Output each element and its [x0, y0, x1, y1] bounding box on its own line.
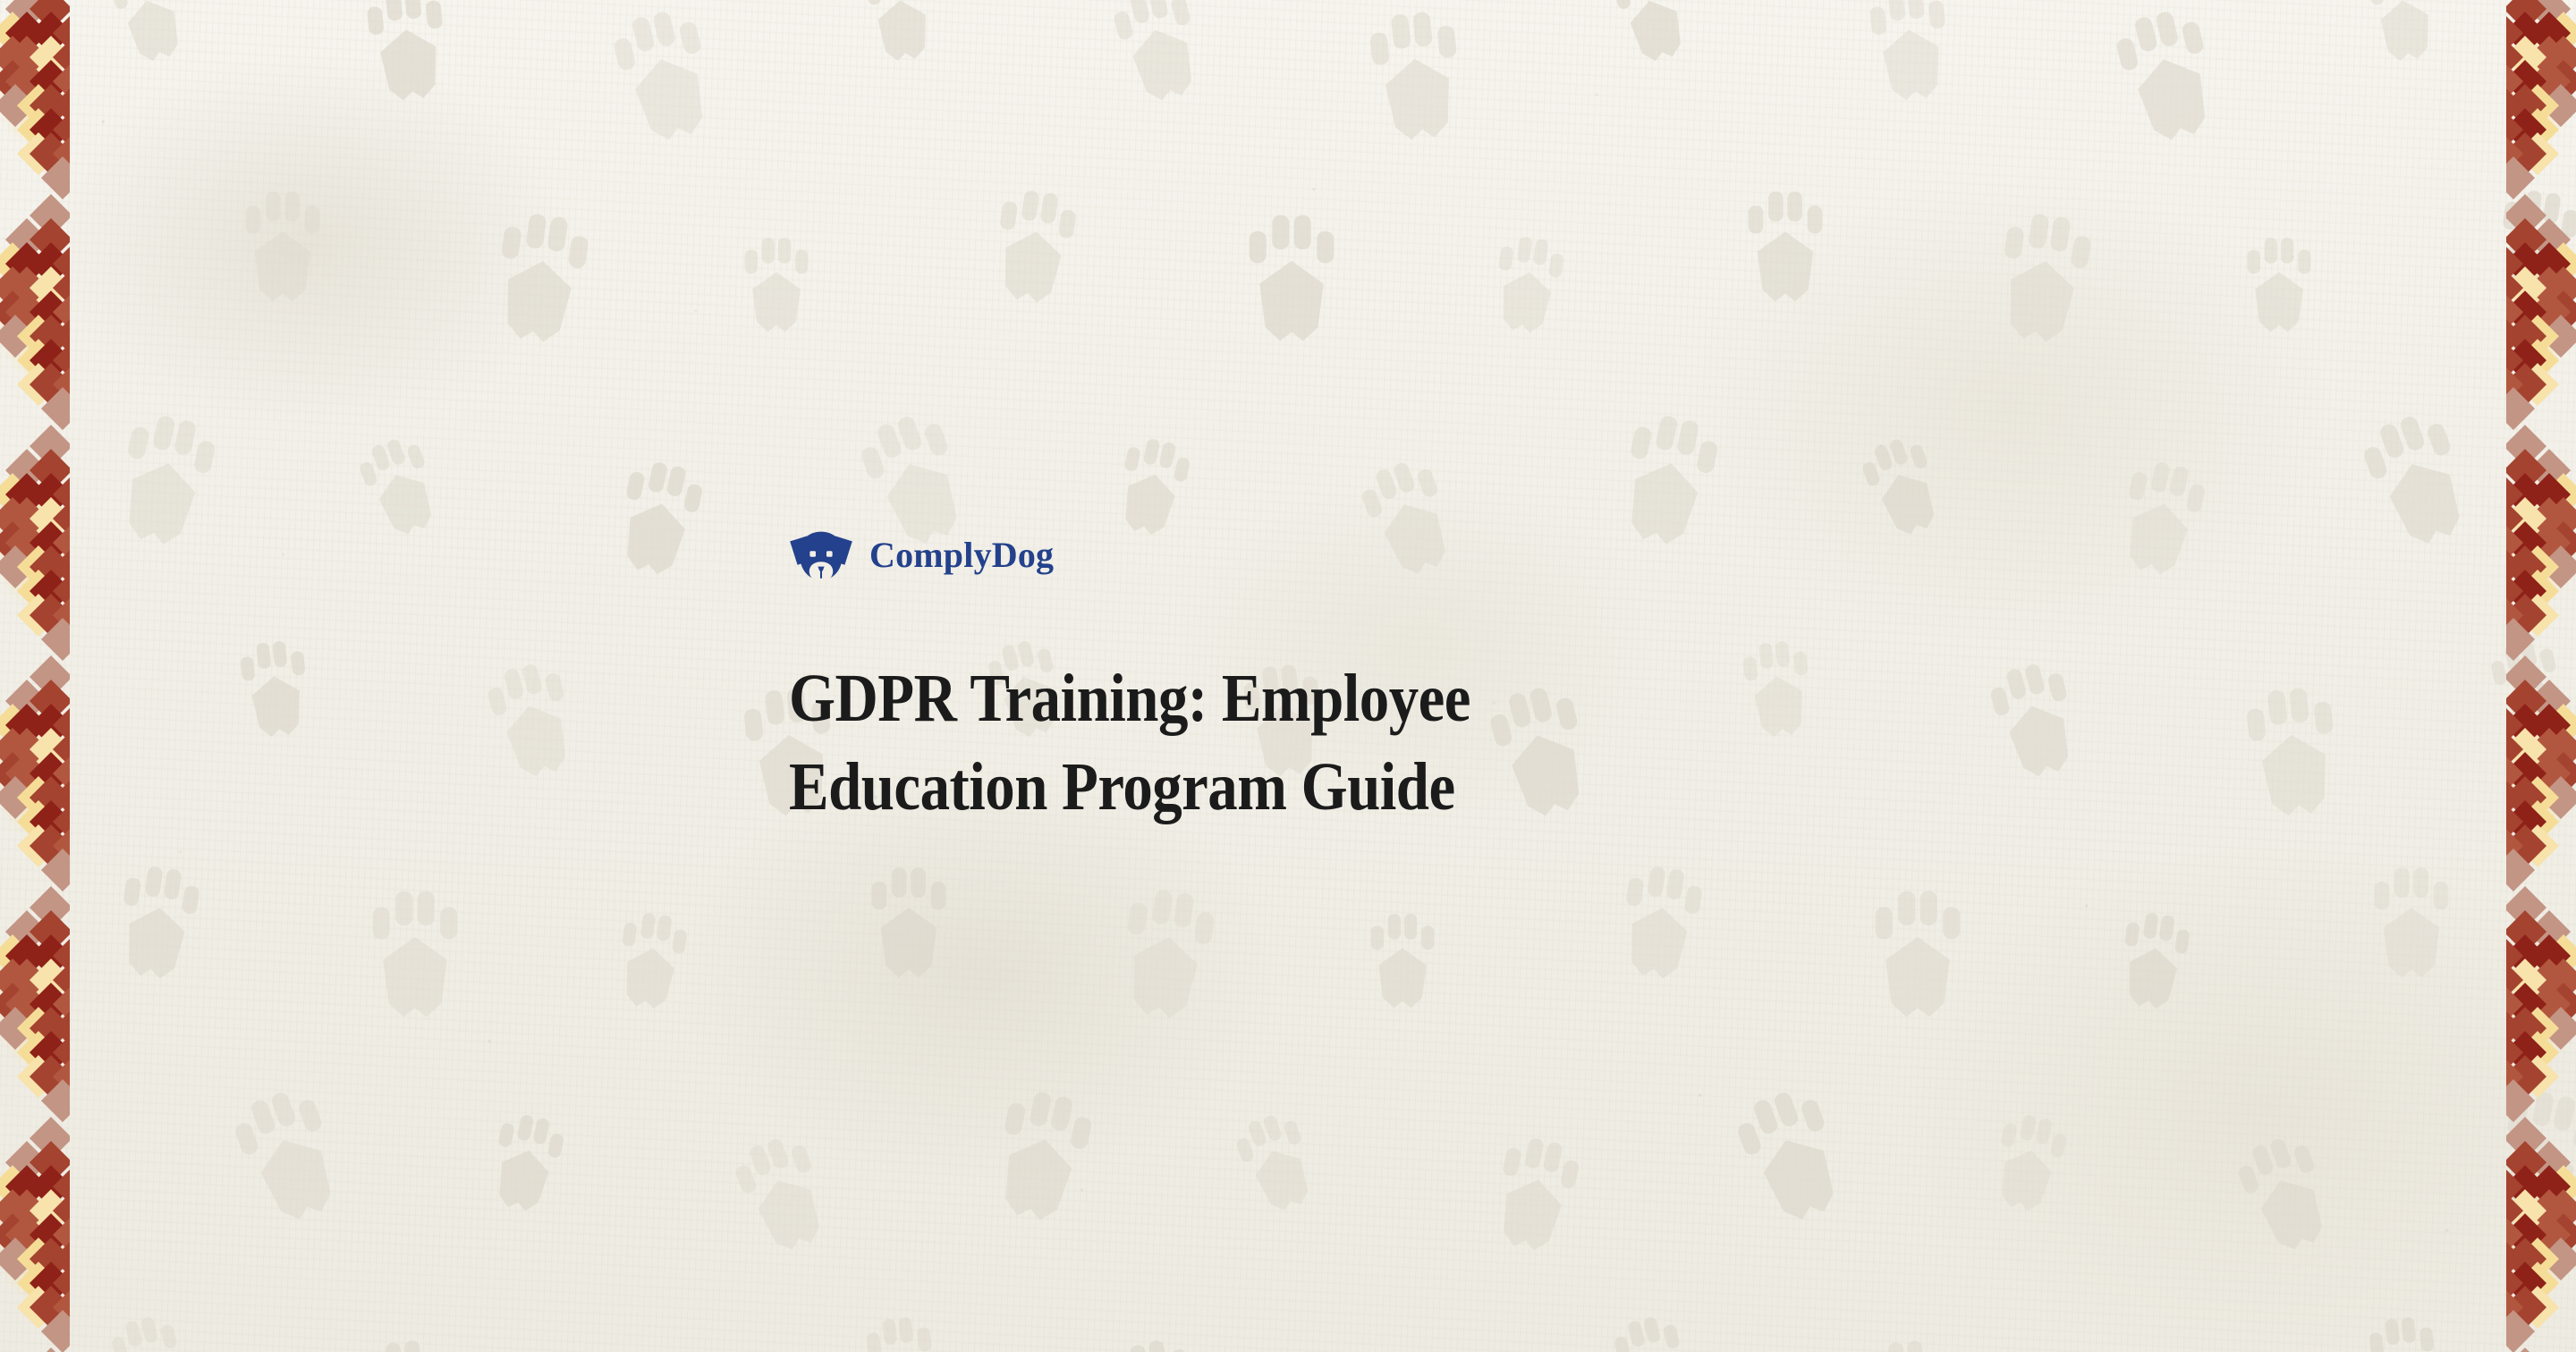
brand-logo: ComplyDog [789, 526, 1773, 585]
right-argyle-border [2506, 0, 2576, 1352]
slide-content: ComplyDog GDPR Training: Employee Educat… [789, 526, 1773, 877]
page-title-line-2: Education Program Guide [789, 743, 1773, 832]
page-title: GDPR Training: Employee Education Progra… [789, 655, 1773, 832]
left-argyle-border [0, 0, 70, 1352]
page-title-line-1: GDPR Training: Employee [789, 655, 1773, 743]
brand-name-label: ComplyDog [869, 537, 1054, 573]
dog-head-icon [789, 529, 853, 581]
slide-canvas: ComplyDog GDPR Training: Employee Educat… [0, 0, 2576, 1352]
